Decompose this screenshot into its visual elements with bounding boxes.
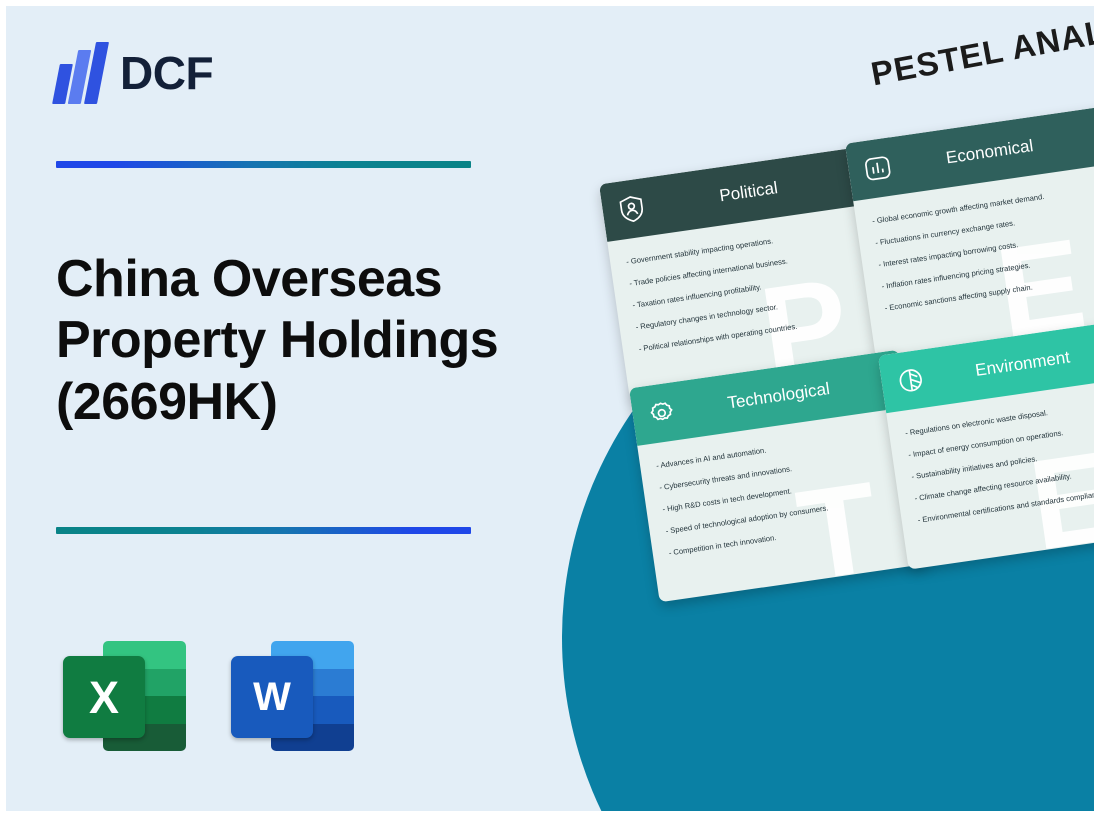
pestel-analysis-title: PESTEL ANALYSIS	[868, 0, 1100, 93]
page-title-line-1: China Overseas	[56, 249, 576, 310]
bullet-list-political: Government stability impacting operation…	[626, 223, 877, 354]
bullet-list-technological: Advances in AI and automation. Cybersecu…	[656, 427, 907, 558]
dcf-logo[interactable]: DCF	[54, 42, 213, 104]
dcf-logo-mark-icon	[54, 42, 106, 104]
dcf-logo-text: DCF	[120, 50, 213, 96]
excel-letter: X	[63, 656, 145, 738]
pestel-card-environment[interactable]: Environment E Regulations on electronic …	[878, 318, 1100, 569]
page-title-line-3: (2669HK)	[56, 372, 576, 433]
divider-bottom	[56, 527, 471, 534]
gear-icon	[645, 396, 679, 430]
bullet-list-environment: Regulations on electronic waste disposal…	[905, 396, 1100, 525]
bar-chart-icon	[861, 151, 895, 185]
slide-canvas: DCF China Overseas Property Holdings (26…	[0, 0, 1100, 817]
divider-top	[56, 161, 471, 168]
word-letter: W	[231, 656, 313, 738]
page-title-line-2: Property Holdings	[56, 310, 576, 371]
shield-person-icon	[615, 192, 649, 226]
excel-document-icon[interactable]: X	[63, 634, 186, 754]
download-format-icons: X W	[63, 634, 354, 754]
pestel-card-economical[interactable]: Economical E Global economic growth affe…	[845, 106, 1100, 357]
leaf-icon	[894, 363, 928, 397]
bullet-list-economical: Global economic growth affecting market …	[872, 184, 1100, 313]
page-title: China Overseas Property Holdings (2669HK…	[56, 249, 576, 433]
word-document-icon[interactable]: W	[231, 634, 354, 754]
